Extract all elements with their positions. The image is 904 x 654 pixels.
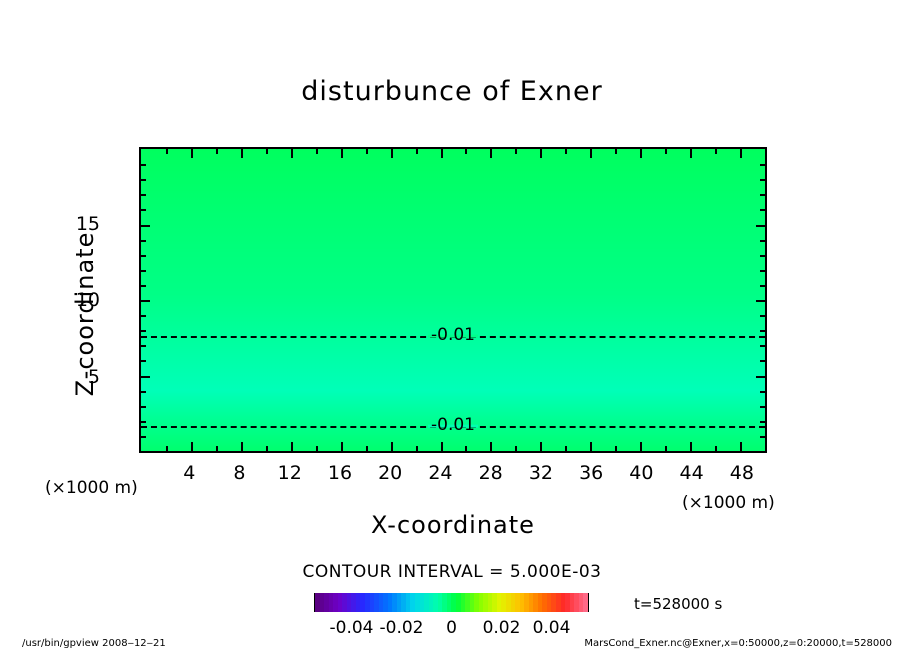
y-axis-tick — [141, 315, 146, 317]
y-axis-tick — [141, 179, 146, 181]
x-axis-tick — [366, 149, 368, 154]
colorbar-gradient — [314, 593, 589, 612]
x-axis-tick — [316, 149, 318, 154]
x-axis-tick — [740, 149, 742, 158]
y-axis-tick — [141, 240, 146, 242]
y-axis-tick — [760, 360, 765, 362]
y-axis-tick — [141, 345, 146, 347]
x-axis-tick — [615, 446, 617, 451]
y-axis-tick — [141, 270, 146, 272]
x-axis-tick — [615, 149, 617, 154]
x-axis-tick — [665, 446, 667, 451]
x-axis-tick — [241, 149, 243, 158]
y-axis-tick — [756, 300, 765, 302]
y-axis-tick — [760, 330, 765, 332]
y-axis-tick — [760, 179, 765, 181]
y-axis-tick — [760, 315, 765, 317]
x-axis-tick — [216, 149, 218, 154]
y-axis-tick — [760, 270, 765, 272]
colorbar-tick-label: 0 — [446, 618, 457, 638]
colorbar-tick-label: -0.02 — [380, 618, 424, 638]
y-axis-tick — [141, 255, 146, 257]
y-axis-tick — [141, 194, 146, 196]
x-axis-tick-label: 28 — [479, 462, 503, 484]
y-axis-tick — [760, 194, 765, 196]
x-axis-tick — [291, 442, 293, 451]
x-axis-tick — [465, 149, 467, 154]
x-axis-tick — [465, 446, 467, 451]
x-axis-tick-label: 48 — [730, 462, 754, 484]
y-axis-tick — [760, 345, 765, 347]
colorbar — [314, 593, 589, 612]
x-axis-tick — [540, 149, 542, 158]
footer-dataset: MarsCond_Exner.nc@Exner,x=0:50000,z=0:20… — [584, 638, 892, 649]
x-axis-tick — [266, 446, 268, 451]
x-axis-tick — [540, 442, 542, 451]
y-axis-tick — [756, 225, 765, 227]
y-axis-tick — [760, 436, 765, 438]
x-axis-tick — [291, 149, 293, 158]
y-axis-tick-label: 15 — [76, 213, 100, 235]
y-axis-tick — [141, 421, 146, 423]
x-axis-tick-label: 36 — [579, 462, 603, 484]
x-axis-tick — [441, 149, 443, 158]
x-axis-tick-label: 20 — [378, 462, 402, 484]
y-axis-tick — [760, 285, 765, 287]
y-axis-tick — [141, 376, 150, 378]
footer-command: /usr/bin/gpview 2008‒12‒21 — [22, 638, 166, 649]
x-axis-tick — [740, 442, 742, 451]
x-axis-tick-label: 40 — [629, 462, 653, 484]
x-axis-tick — [441, 442, 443, 451]
x-axis-tick — [391, 442, 393, 451]
x-axis-tick — [690, 442, 692, 451]
x-axis-tick-label: 32 — [529, 462, 553, 484]
x-axis-tick — [590, 149, 592, 158]
y-axis-tick — [760, 421, 765, 423]
x-axis-tick — [690, 149, 692, 158]
x-axis-tick — [715, 446, 717, 451]
y-axis-tick — [760, 391, 765, 393]
y-axis-tick — [760, 209, 765, 211]
y-axis-tick-label: 5 — [88, 366, 100, 388]
contour-label: -0.01 — [428, 417, 478, 434]
x-axis-tick-label: 16 — [328, 462, 352, 484]
y-axis-tick — [760, 240, 765, 242]
y-axis-tick — [141, 406, 146, 408]
x-axis-tick — [665, 149, 667, 154]
y-axis-tick — [141, 330, 146, 332]
x-axis-tick — [391, 149, 393, 158]
contour-field — [141, 149, 765, 451]
x-axis-tick-label: 44 — [680, 462, 704, 484]
colorbar-tick-label: -0.04 — [330, 618, 374, 638]
x-axis-tick — [565, 446, 567, 451]
y-axis-tick — [141, 164, 146, 166]
x-axis-tick-label: 8 — [233, 462, 245, 484]
y-axis-tick — [756, 376, 765, 378]
x-axis-tick — [316, 446, 318, 451]
colorbar-title: CONTOUR INTERVAL = 5.000E-03 — [0, 562, 904, 582]
x-axis-tick-label: 4 — [183, 462, 195, 484]
y-axis-unit-label: (×1000 m) — [45, 478, 138, 498]
x-axis-tick — [266, 149, 268, 154]
x-axis-tick — [166, 149, 168, 154]
x-axis-tick — [565, 149, 567, 154]
y-axis-tick — [760, 164, 765, 166]
x-axis-tick — [715, 149, 717, 154]
x-axis-tick — [490, 149, 492, 158]
chart-title: disturbunce of Exner — [0, 76, 904, 107]
x-axis-tick — [191, 149, 193, 158]
x-axis-title: X-coordinate — [139, 511, 767, 539]
x-axis-tick — [191, 442, 193, 451]
y-axis-tick — [141, 300, 150, 302]
y-axis-tick — [141, 391, 146, 393]
x-axis-tick — [640, 442, 642, 451]
x-axis-tick — [640, 149, 642, 158]
y-axis-tick — [141, 285, 146, 287]
x-axis-tick — [241, 442, 243, 451]
colorbar-segment — [583, 593, 588, 612]
y-axis-tick — [141, 225, 150, 227]
x-axis-tick — [515, 446, 517, 451]
y-axis-title: Z-coordinate — [71, 204, 99, 424]
y-axis-tick-label: 10 — [76, 289, 100, 311]
x-axis-tick — [166, 446, 168, 451]
x-axis-tick — [515, 149, 517, 154]
colorbar-tick-label: 0.02 — [483, 618, 521, 638]
x-axis-tick — [341, 442, 343, 451]
time-label: t=528000 s — [634, 595, 722, 613]
x-axis-tick — [490, 442, 492, 451]
x-axis-tick — [341, 149, 343, 158]
x-axis-tick — [416, 149, 418, 154]
x-axis-tick — [216, 446, 218, 451]
x-axis-unit-label: (×1000 m) — [682, 493, 775, 513]
y-axis-tick — [760, 255, 765, 257]
plot-area: -0.01-0.01 — [139, 147, 767, 453]
x-axis-tick-label: 12 — [278, 462, 302, 484]
y-axis-tick — [760, 406, 765, 408]
y-axis-tick — [141, 360, 146, 362]
x-axis-tick-label: 24 — [428, 462, 452, 484]
contour-label: -0.01 — [428, 327, 478, 344]
y-axis-tick — [141, 436, 146, 438]
colorbar-tick-label: 0.04 — [533, 618, 571, 638]
y-axis-tick — [141, 209, 146, 211]
x-axis-tick — [590, 442, 592, 451]
x-axis-tick — [416, 446, 418, 451]
x-axis-tick — [366, 446, 368, 451]
